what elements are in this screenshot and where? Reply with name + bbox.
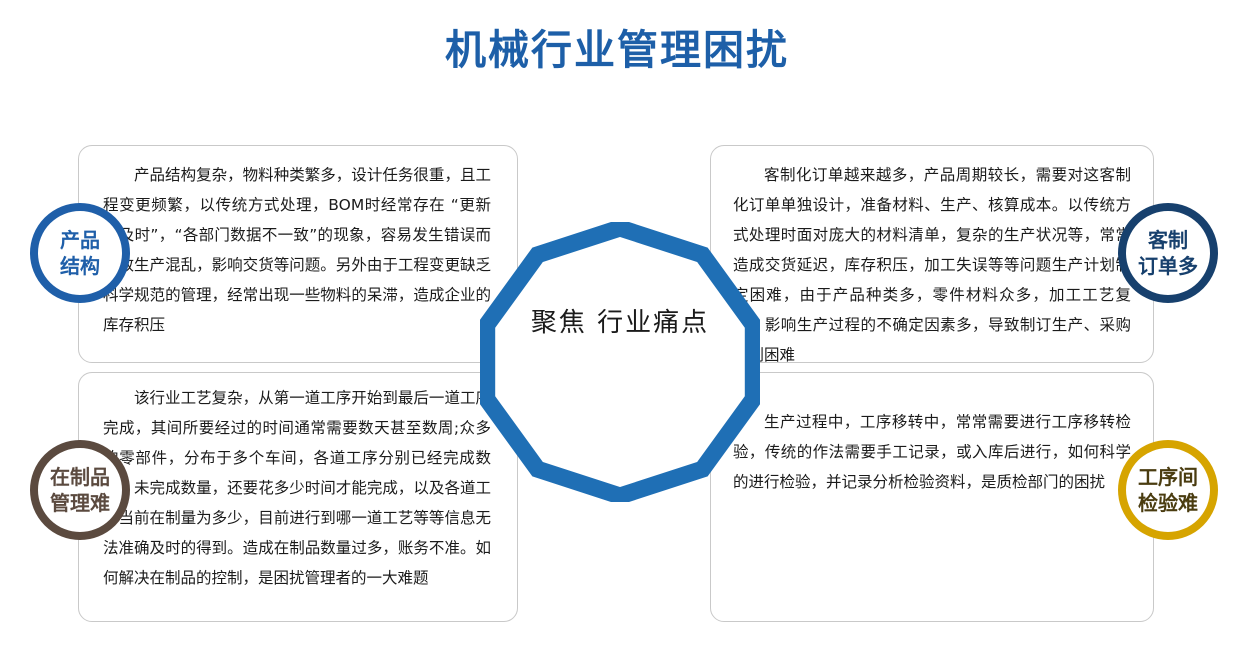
panel-custom-orders-text: 客制化订单越来越多，产品周期较长，需要对这客制化订单单独设计，准备材料、生产、核…: [711, 146, 1153, 370]
center-label: 聚焦 行业痛点: [480, 300, 760, 346]
panel-inspection-text: 生产过程中，工序移转中，常常需要进行工序移转检验，传统的作法需要手工记录，或入库…: [711, 373, 1153, 497]
badge-product-structure-label: 产品 结构: [60, 227, 100, 279]
panel-product-structure: 产品结构复杂，物料种类繁多，设计任务很重，且工程变更频繁，以传统方式处理，BOM…: [78, 145, 518, 363]
badge-wip-management-label: 在制品 管理难: [50, 464, 110, 516]
badge-inspection-label: 工序间 检验难: [1138, 464, 1198, 516]
badge-wip-management[interactable]: 在制品 管理难: [30, 440, 130, 540]
badge-custom-orders-label: 客制 订单多: [1138, 227, 1198, 279]
panel-custom-orders: 客制化订单越来越多，产品周期较长，需要对这客制化订单单独设计，准备材料、生产、核…: [710, 145, 1154, 363]
badge-product-structure[interactable]: 产品 结构: [30, 203, 130, 303]
panel-wip-management: 该行业工艺复杂，从第一道工序开始到最后一道工序完成，其间所要经过的时间通常需要数…: [78, 372, 518, 622]
panel-product-structure-text: 产品结构复杂，物料种类繁多，设计任务很重，且工程变更频繁，以传统方式处理，BOM…: [79, 146, 517, 340]
badge-inspection[interactable]: 工序间 检验难: [1118, 440, 1218, 540]
badge-custom-orders[interactable]: 客制 订单多: [1118, 203, 1218, 303]
panel-wip-management-text: 该行业工艺复杂，从第一道工序开始到最后一道工序完成，其间所要经过的时间通常需要数…: [79, 373, 517, 593]
panel-inspection: 生产过程中，工序移转中，常常需要进行工序移转检验，传统的作法需要手工记录，或入库…: [710, 372, 1154, 622]
decagon-shape-icon: [480, 222, 760, 502]
page-title: 机械行业管理困扰: [0, 16, 1234, 76]
